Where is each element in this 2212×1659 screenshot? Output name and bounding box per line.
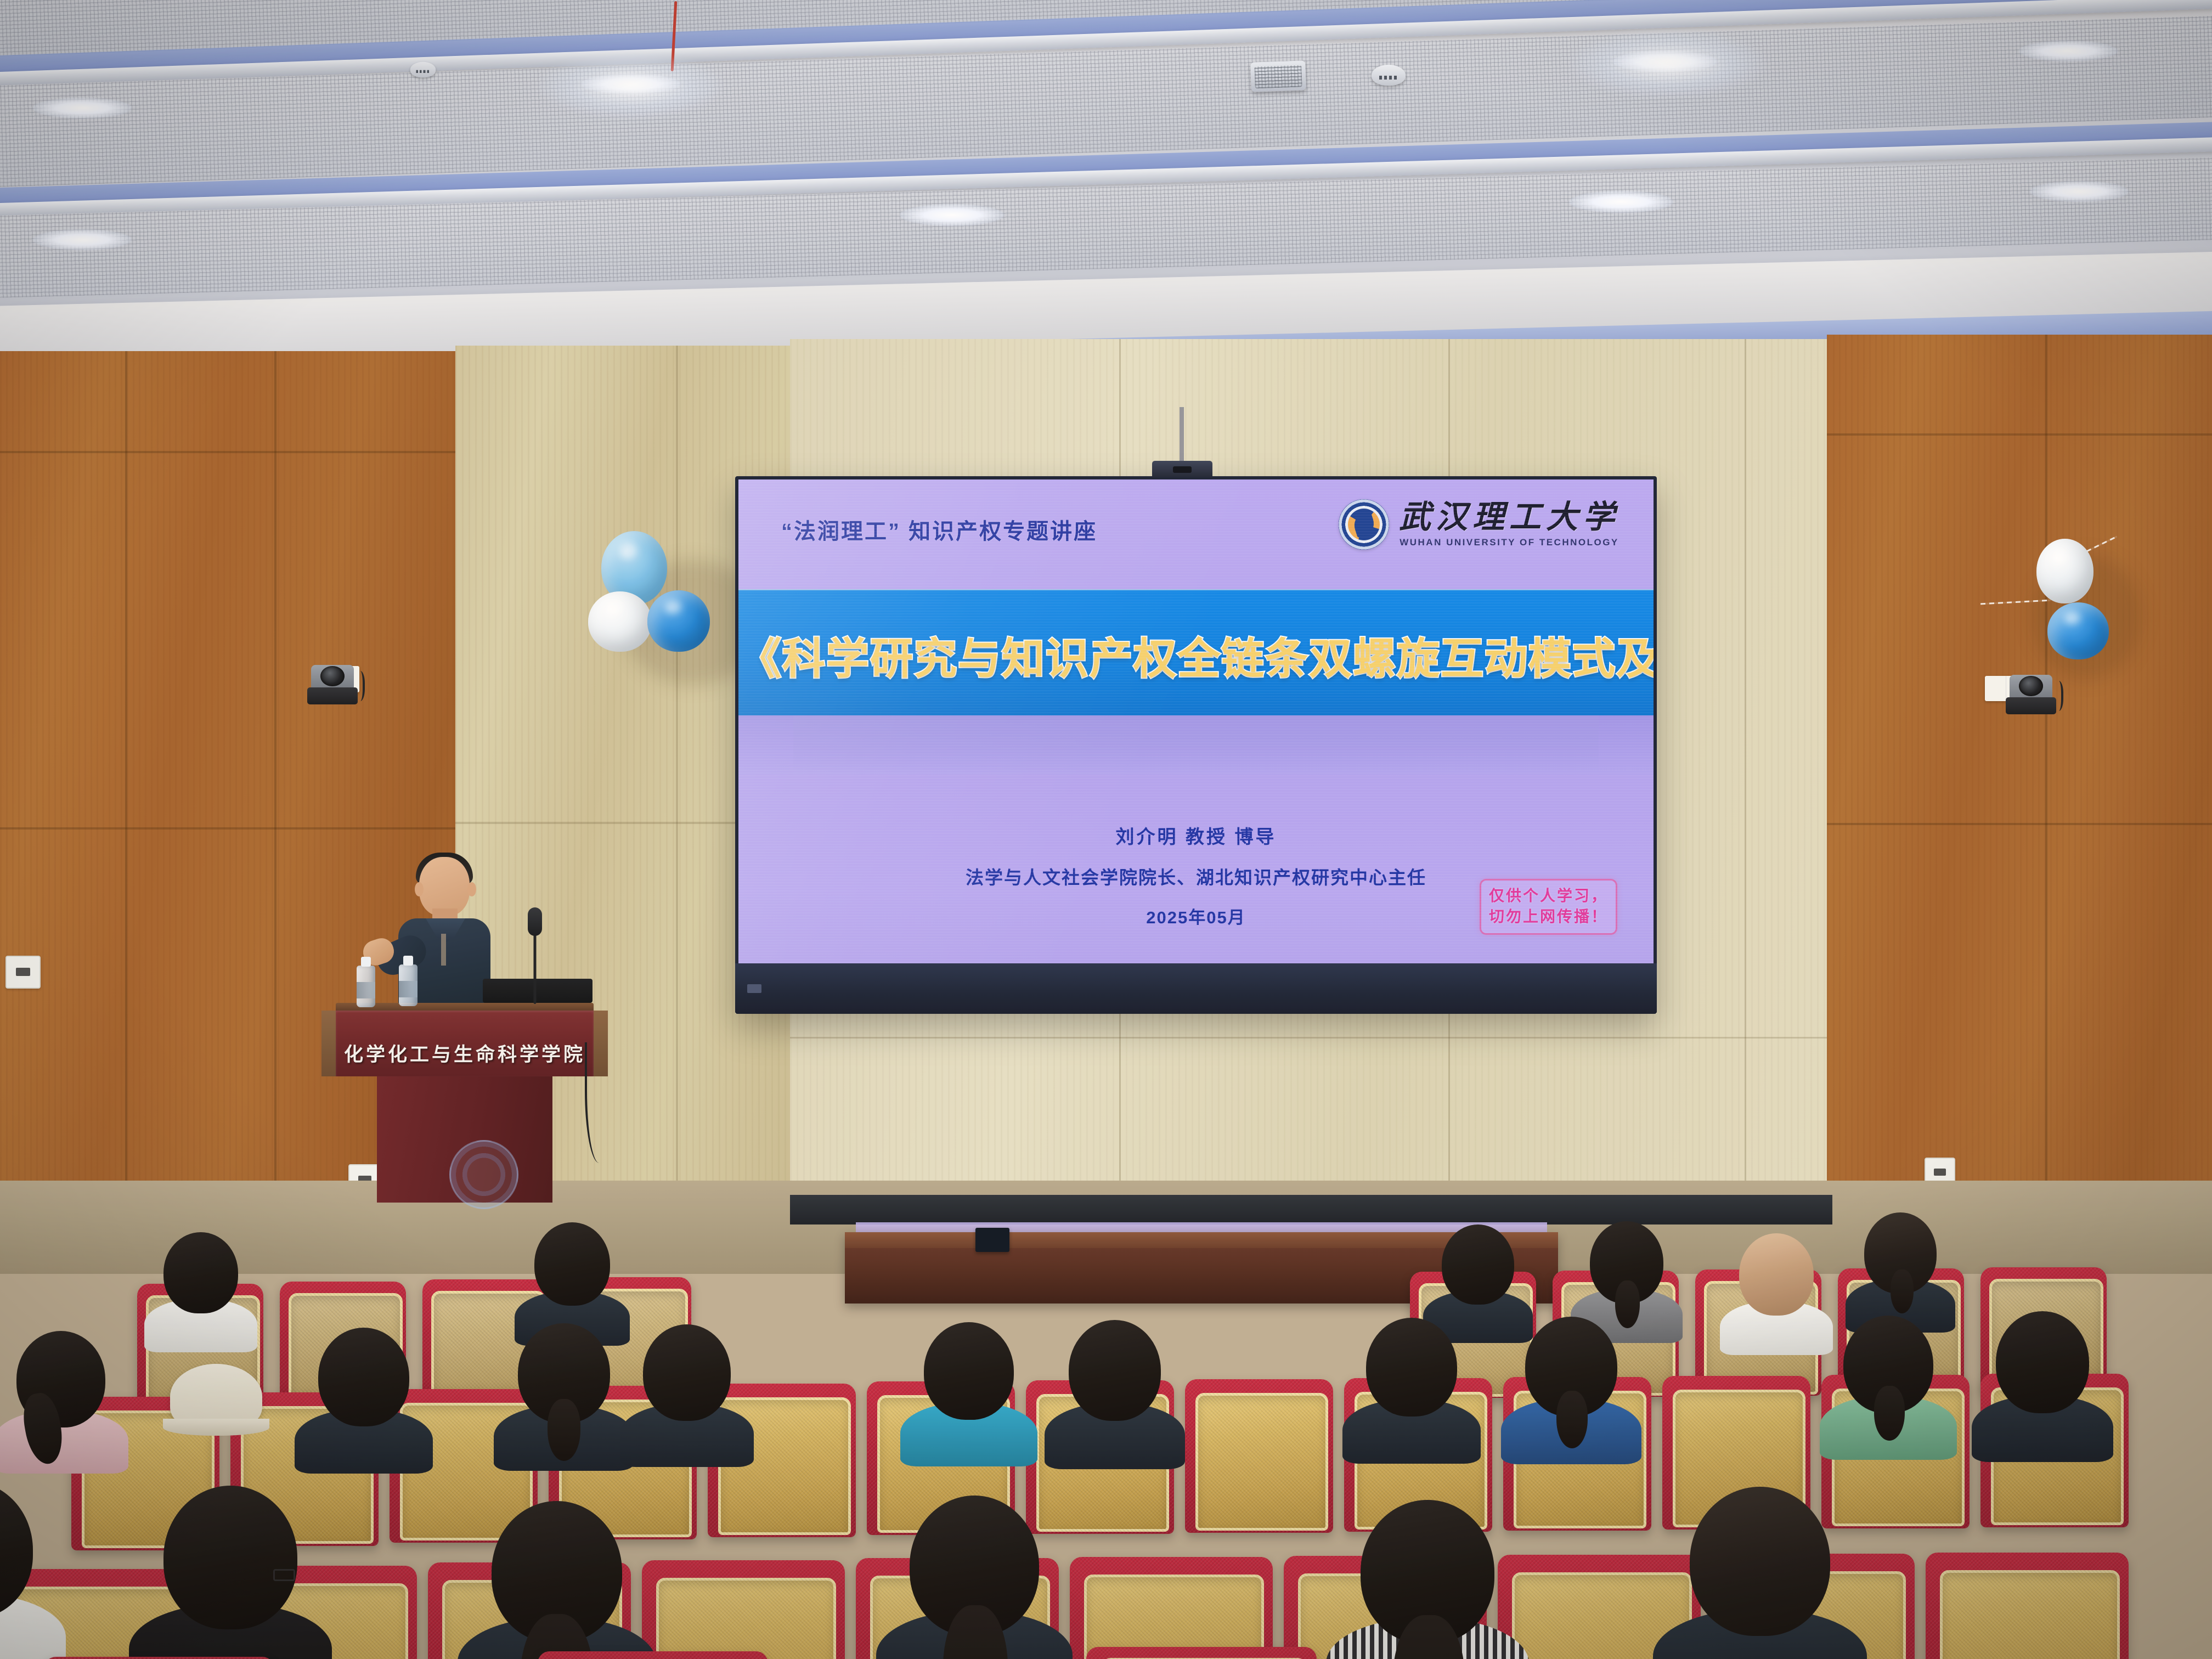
screen-mount-post [1180, 407, 1184, 462]
audience-person [1690, 1487, 1830, 1636]
balloon-white [588, 591, 652, 652]
lecture-hall-photo: “法润理工” 知识产权专题讲座 武汉理工大学 WUHAN UNIVERSITY … [0, 0, 2212, 1659]
downlight [900, 204, 1004, 226]
glasses-icon [273, 1569, 295, 1581]
audience-person [1069, 1320, 1161, 1421]
downlight [2030, 181, 2129, 202]
sprinkler-icon [806, 185, 821, 211]
seat[interactable] [1070, 1557, 1273, 1659]
audience-person [163, 1486, 297, 1629]
presenter-name: 刘介明 教授 博导 [738, 822, 1654, 849]
audience-person [0, 1481, 33, 1618]
university-name-en: WUHAN UNIVERSITY OF TECHNOLOGY [1400, 537, 1619, 548]
ptz-camera-left [307, 654, 358, 704]
slide-header-title: “法润理工” 知识产权专题讲座 [781, 513, 1097, 545]
seat[interactable] [642, 1560, 845, 1659]
light-glow [1569, 30, 1767, 98]
smoke-detector-icon [410, 62, 436, 78]
watermark-line-2: 切勿上网传播！ [1489, 906, 1608, 927]
screen-surface: “法润理工” 知识产权专题讲座 武汉理工大学 WUHAN UNIVERSITY … [738, 479, 1654, 966]
audience-person [318, 1328, 409, 1426]
audience-person [16, 1331, 105, 1427]
sprinkler-icon [1311, 177, 1325, 202]
audience-person-cap [170, 1364, 262, 1430]
balloon-blue [2047, 602, 2109, 659]
audience-person [643, 1324, 731, 1421]
balloon-white [2036, 539, 2093, 603]
light-glow [538, 53, 724, 119]
presenter-placket [441, 934, 446, 966]
seat[interactable] [1926, 1553, 2129, 1659]
copyright-watermark: 仅供个人学习， 切勿上网传播！ [1480, 879, 1617, 935]
downlight [2019, 41, 2118, 61]
university-logo: 武汉理工大学 WUHAN UNIVERSITY OF TECHNOLOGY [1339, 499, 1620, 550]
audience-person [1843, 1316, 1933, 1413]
audience-person [1996, 1311, 2089, 1413]
audience-row-front [0, 1476, 2212, 1659]
slide-main-title: 《科学研究与知识产权全链条双螺旋互动模式及实践》 [738, 624, 1654, 686]
audience-person [1864, 1212, 1937, 1294]
presenter-head [419, 857, 470, 916]
wut-emblem-icon [1339, 499, 1389, 550]
ptz-camera-right [2006, 664, 2056, 714]
university-name-cn: 武汉理工大学 [1399, 501, 1620, 533]
balloon-blue [647, 590, 710, 652]
downlight [1569, 191, 1673, 213]
screen-bottom-bar [735, 963, 1657, 1014]
gooseneck-microphone [527, 911, 543, 1004]
slide-accent-strip [738, 715, 1654, 775]
audience-person [1361, 1500, 1494, 1644]
water-bottle [357, 966, 375, 1007]
smoke-detector-icon [1372, 65, 1406, 86]
presentation-display[interactable]: “法润理工” 知识产权专题讲座 武汉理工大学 WUHAN UNIVERSITY … [735, 476, 1657, 1014]
wall-outlet [5, 956, 41, 989]
audience-person [910, 1496, 1039, 1636]
watermark-line-1: 仅供个人学习， [1489, 885, 1608, 906]
audience-person [924, 1322, 1014, 1420]
downlight [33, 98, 132, 119]
wall-panel-right-dark-wood [1827, 335, 2212, 1190]
presenter-ear [467, 882, 476, 896]
seat[interactable] [44, 1657, 274, 1659]
presenter-ear [415, 882, 424, 896]
seat[interactable] [1086, 1647, 1317, 1659]
slide-title-band: 《科学研究与知识产权全链条双螺旋互动模式及实践》 [738, 589, 1654, 715]
seat[interactable] [538, 1651, 768, 1659]
slide-body: 刘介明 教授 博导 法学与人文社会学院院长、湖北知识产权研究中心主任 2025年… [738, 775, 1654, 966]
conference-camera-icon [1152, 461, 1212, 477]
slide: “法润理工” 知识产权专题讲座 武汉理工大学 WUHAN UNIVERSITY … [738, 479, 1654, 966]
downlight [33, 229, 132, 250]
audience-person [1366, 1318, 1457, 1417]
audience-row-foreground [0, 1657, 2212, 1659]
lectern-label: 化学化工与生命科学学院 [336, 1039, 594, 1067]
lectern-face: 化学化工与生命科学学院 [336, 1011, 594, 1076]
water-bottle [399, 964, 417, 1006]
audience-person [518, 1323, 610, 1423]
audience-person [492, 1501, 622, 1643]
slide-header: “法润理工” 知识产权专题讲座 武汉理工大学 WUHAN UNIVERSITY … [738, 479, 1654, 589]
audience-person [1525, 1317, 1617, 1417]
ceiling-speaker [1250, 60, 1306, 92]
